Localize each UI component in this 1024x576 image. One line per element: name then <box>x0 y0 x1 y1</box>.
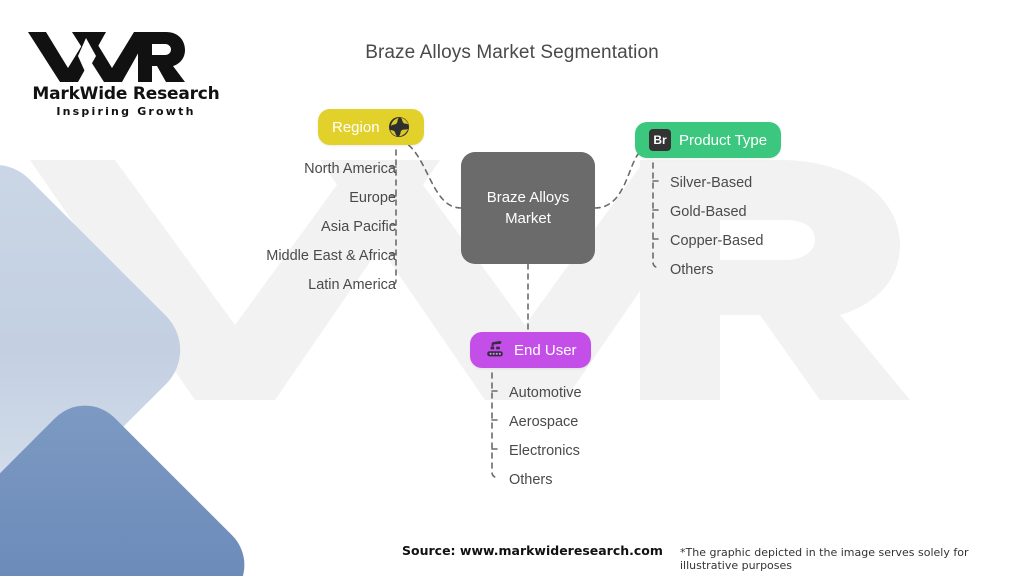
region-label: Region <box>332 119 380 136</box>
list-item[interactable]: Others <box>670 255 870 284</box>
center-node-line2: Market <box>505 210 551 227</box>
list-item[interactable]: Aerospace <box>509 407 709 436</box>
globe-icon <box>388 116 410 138</box>
wire-center-region <box>400 140 461 208</box>
region-leaf-list: North America Europe Asia Pacific Middle… <box>206 154 396 299</box>
page-title: Braze Alloys Market Segmentation <box>0 42 1024 64</box>
br-square-icon-text: Br <box>649 129 671 151</box>
decorative-square-light <box>0 145 200 555</box>
list-item[interactable]: Asia Pacific <box>206 212 396 241</box>
center-node[interactable]: Braze Alloys Market <box>461 152 595 264</box>
br-square-icon: Br <box>649 129 671 151</box>
decorative-square-dark <box>0 388 262 576</box>
end-user-label: End User <box>514 342 577 359</box>
list-item[interactable]: Latin America <box>206 270 396 299</box>
brand-tagline: Inspiring Growth <box>26 105 226 118</box>
list-item[interactable]: North America <box>206 154 396 183</box>
list-item[interactable]: Silver-Based <box>670 168 870 197</box>
disclaimer-note: *The graphic depicted in the image serve… <box>680 546 1024 572</box>
product-type-leaf-list: Silver-Based Gold-Based Copper-Based Oth… <box>670 168 870 284</box>
list-item[interactable]: Automotive <box>509 378 709 407</box>
branch-badge-region[interactable]: Region <box>318 109 424 145</box>
industrial-robot-icon <box>484 339 506 361</box>
center-node-line1: Braze Alloys <box>487 189 570 206</box>
list-item[interactable]: Others <box>509 465 709 494</box>
wire-enduser-spine <box>492 373 498 478</box>
branch-badge-end-user[interactable]: End User <box>470 332 591 368</box>
wire-center-product <box>595 152 640 208</box>
segmentation-infographic: MarkWide Research Inspiring Growth Braze… <box>0 0 1024 576</box>
product-type-label: Product Type <box>679 132 767 149</box>
list-item[interactable]: Electronics <box>509 436 709 465</box>
list-item[interactable]: Middle East & Africa <box>206 241 396 270</box>
list-item[interactable]: Copper-Based <box>670 226 870 255</box>
list-item[interactable]: Europe <box>206 183 396 212</box>
end-user-leaf-list: Automotive Aerospace Electronics Others <box>509 378 709 494</box>
list-item[interactable]: Gold-Based <box>670 197 870 226</box>
center-node-label: Braze Alloys Market <box>487 187 570 229</box>
source-credit: Source: www.markwideresearch.com <box>402 543 663 558</box>
wire-product-spine <box>653 163 659 268</box>
brand-name: MarkWide Research <box>26 84 226 104</box>
branch-badge-product-type[interactable]: Br Product Type <box>635 122 781 158</box>
